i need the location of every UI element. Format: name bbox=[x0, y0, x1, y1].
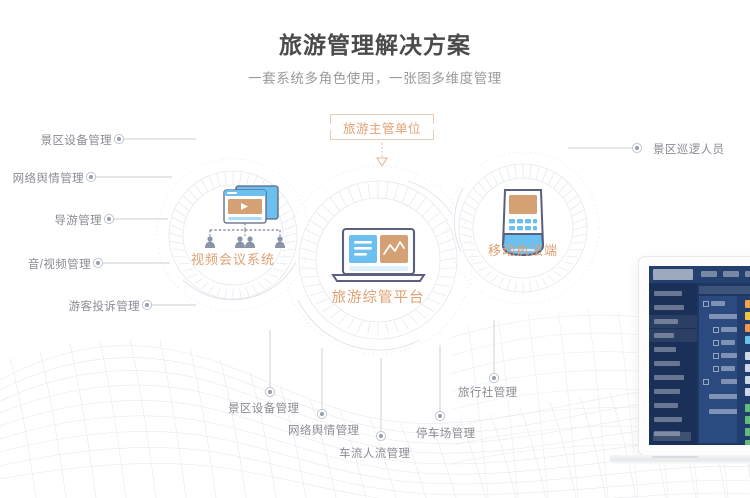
bottom-item-1[interactable]: 网络舆情管理 bbox=[288, 422, 359, 438]
video-conference-icon bbox=[205, 186, 285, 248]
authority-label: 旅游主管单位 bbox=[343, 118, 421, 137]
bottom-item-0[interactable]: 景区设备管理 bbox=[228, 400, 299, 416]
bracket-top-right bbox=[419, 114, 434, 124]
center-circle-caption: 旅游综管平台 bbox=[312, 286, 444, 307]
left-item-3[interactable]: 音/视频管理 bbox=[0, 256, 91, 272]
bottom-item-4[interactable]: 旅行社管理 bbox=[458, 384, 518, 400]
left-item-4[interactable]: 游客投诉管理 bbox=[0, 298, 140, 314]
page-title: 旅游管理解决方案 bbox=[0, 26, 750, 60]
page-subtitle: 一套系统多角色使用，一张图多维度管理 bbox=[0, 67, 750, 87]
left-item-1[interactable]: 网络舆情管理 bbox=[0, 170, 84, 186]
right-item-0[interactable]: 景区巡逻人员 bbox=[653, 141, 724, 157]
left-item-0[interactable]: 景区设备管理 bbox=[0, 132, 112, 148]
authority-connector bbox=[377, 143, 387, 166]
right-connector-dots bbox=[632, 143, 641, 152]
bottom-connectors bbox=[270, 320, 494, 433]
authority-box[interactable]: 旅游主管单位 bbox=[330, 114, 434, 140]
bracket-bottom-rule bbox=[344, 139, 420, 140]
bracket-bottom-right bbox=[419, 130, 434, 140]
right-circle-caption: 移动执法端 bbox=[467, 240, 579, 259]
left-circle-caption: 视频会议系统 bbox=[175, 249, 291, 268]
solution-diagram-page: 旅游管理解决方案 一套系统多角色使用，一张图多维度管理 旅游主管单位 bbox=[0, 0, 750, 498]
left-circle-rings bbox=[157, 159, 309, 311]
laptop-dashboard-icon bbox=[333, 229, 424, 281]
bottom-item-2[interactable]: 车流人流管理 bbox=[339, 445, 410, 461]
bottom-item-3[interactable]: 停车场管理 bbox=[416, 425, 476, 441]
bracket-top-rule bbox=[344, 114, 420, 115]
left-item-2[interactable]: 导游管理 bbox=[0, 212, 102, 228]
